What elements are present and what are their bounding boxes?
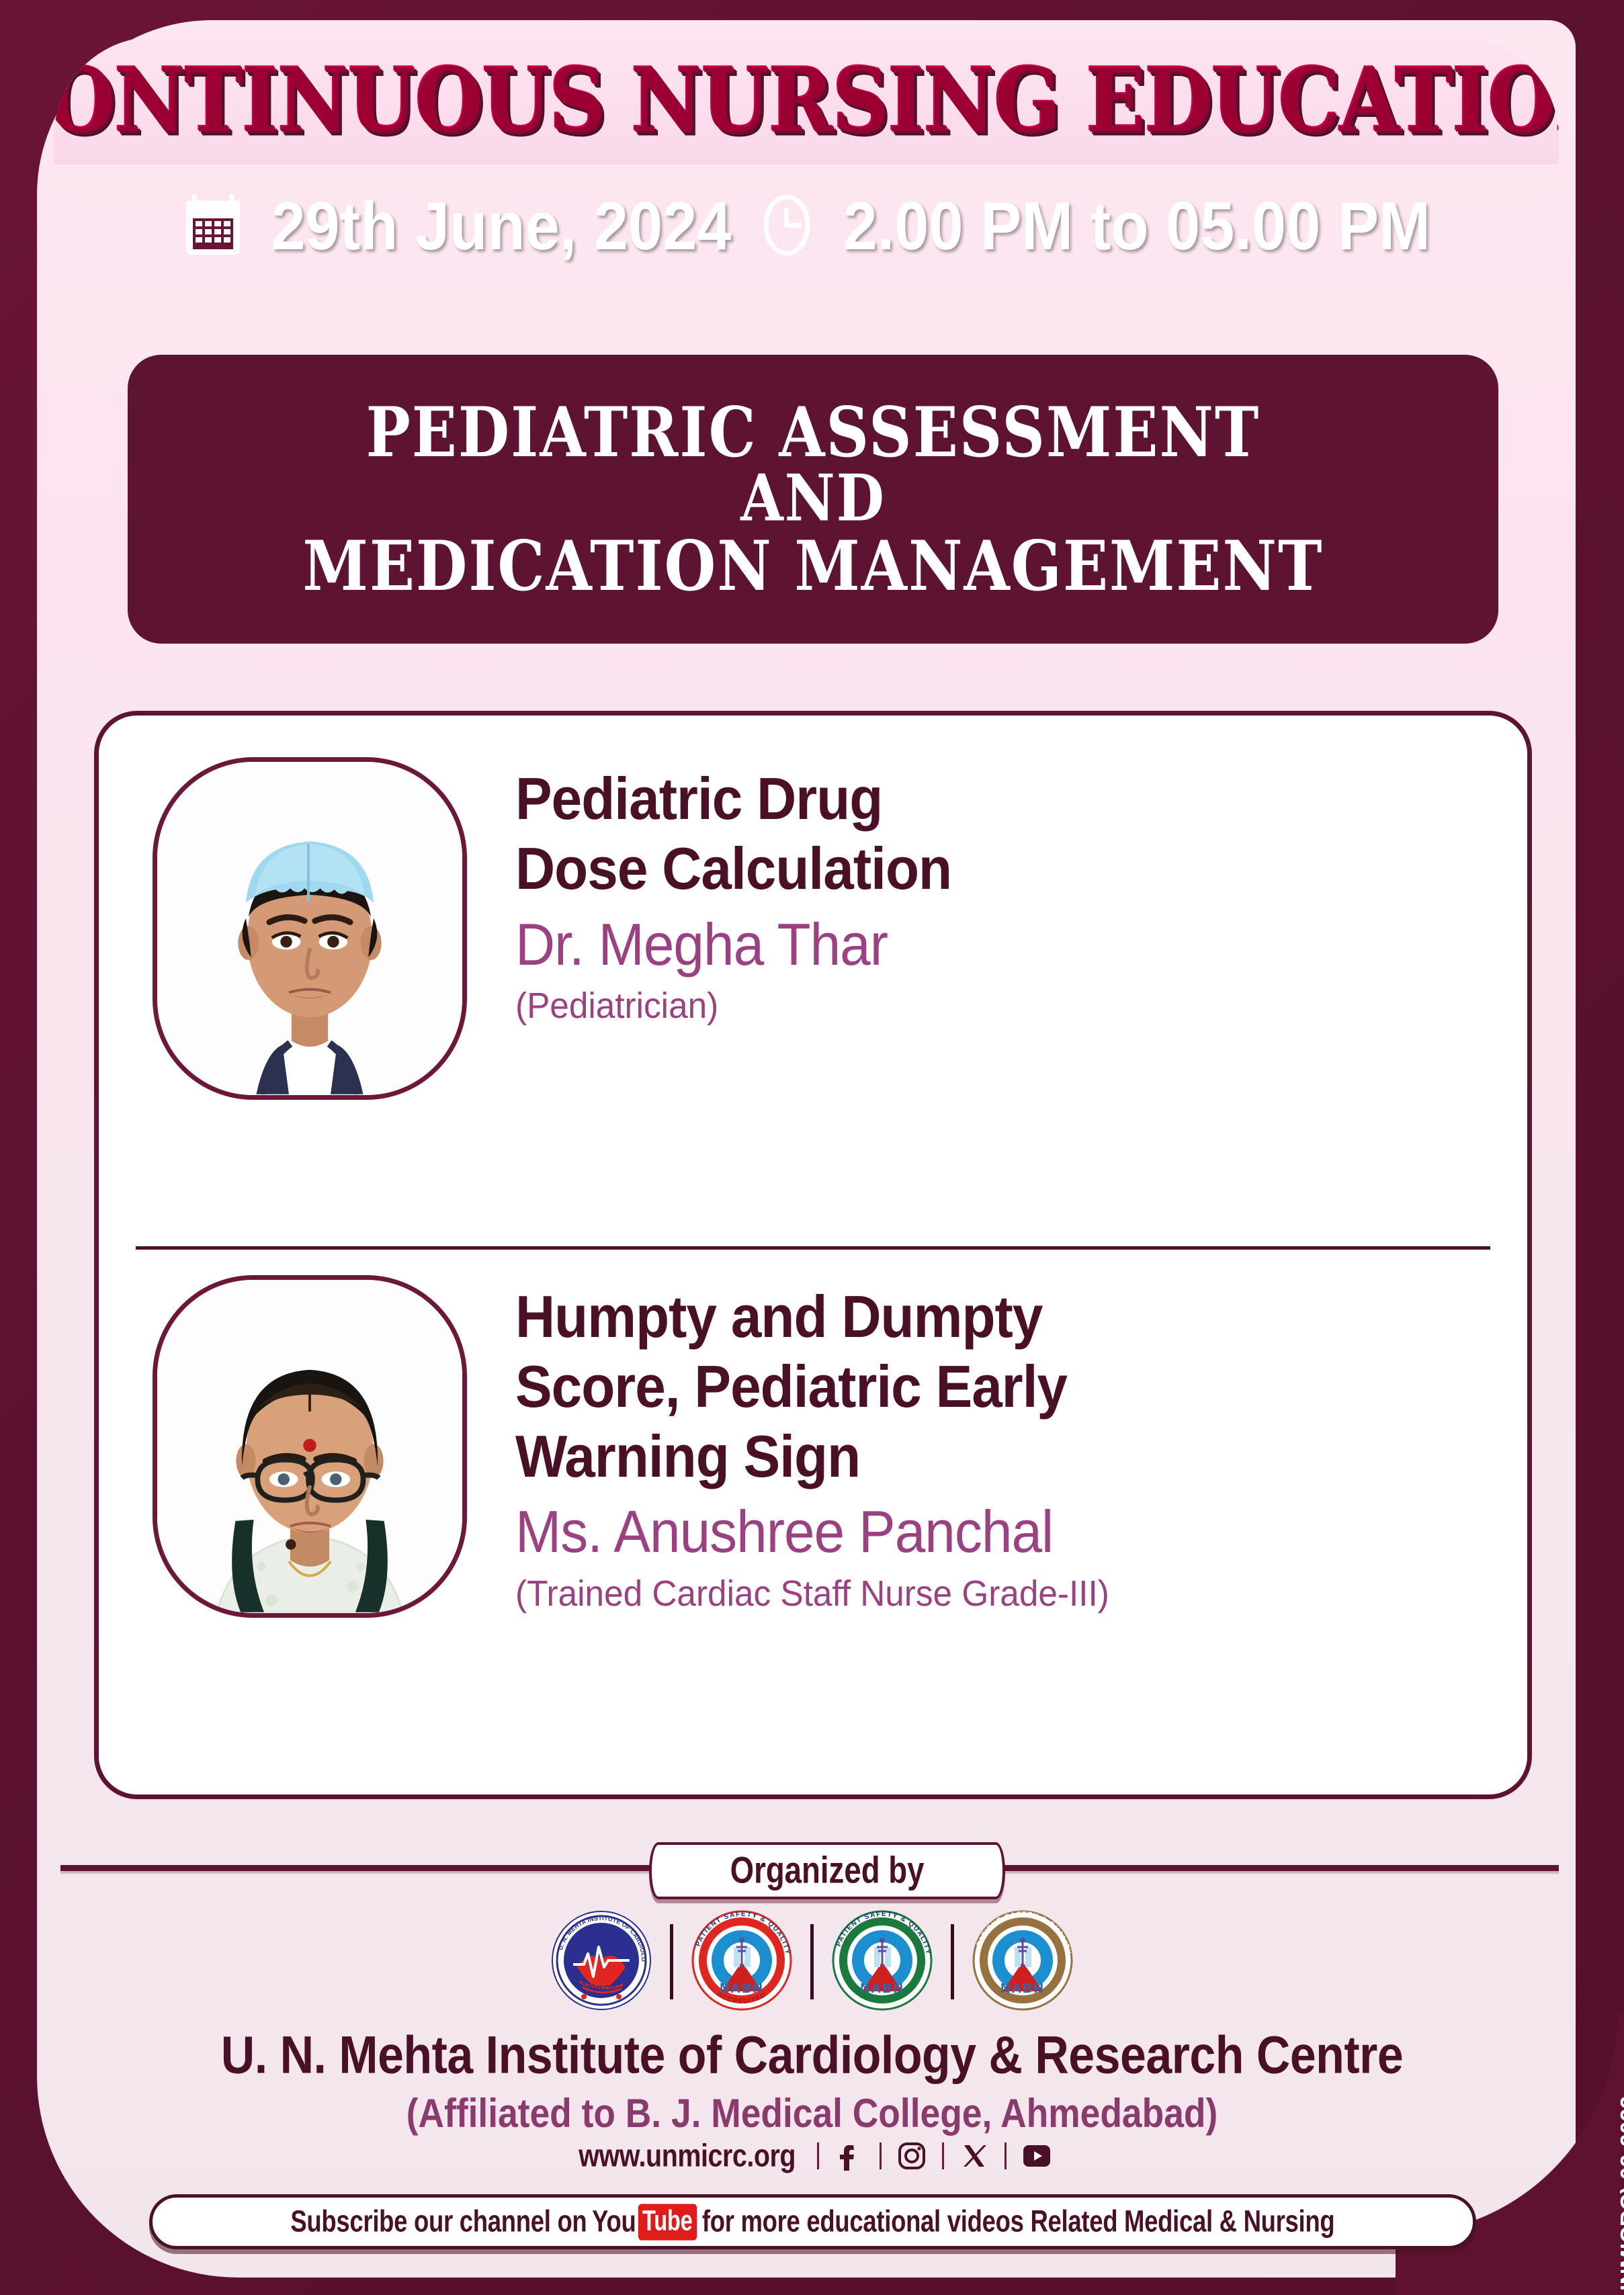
poster-root: CONTINUOUS NURSING EDUCATION xyxy=(0,0,1624,2295)
organized-by-badge: Organized by xyxy=(649,1842,1005,1899)
design-credit: Design : Photo-Graphic Dept. (UNMICRC) 0… xyxy=(1616,2284,1624,2295)
speaker-2-topic-line-1: Humpty and Dumpty xyxy=(515,1282,1097,1352)
x-twitter-icon[interactable] xyxy=(959,2140,990,2171)
subscribe-text: Subscribe our channel on YouTube for mor… xyxy=(290,2204,1334,2239)
subscribe-suffix: for more educational videos Related Medi… xyxy=(702,2204,1335,2239)
youtube-tube: Tube xyxy=(638,2204,697,2240)
header-title-band: CONTINUOUS NURSING EDUCATION xyxy=(54,37,1559,165)
clock-icon xyxy=(758,193,816,261)
divider xyxy=(880,2142,882,2169)
event-date: 29th June, 2024 xyxy=(271,188,731,266)
nabh-emergency-logo: NABH PATIENT SAFETY & QUALITY OF CARE CE… xyxy=(972,1909,1074,2015)
speakers-card: Pediatric Drug Dose Calculation Dr. Megh… xyxy=(94,711,1532,1799)
nabh-nursing-logo: NABH PATIENT SAFETY & QUALITY OF CARE CE… xyxy=(831,1909,933,2015)
divider xyxy=(817,2142,819,2169)
svg-text:NABH: NABH xyxy=(720,1981,764,1996)
social-row: www.unmicrc.org xyxy=(0,2140,1624,2172)
topic-banner: PEDIATRIC ASSESSMENT AND MEDICATION MANA… xyxy=(128,355,1498,644)
calendar-icon xyxy=(182,191,244,262)
logo-separator xyxy=(670,1924,673,1999)
header-datetime: 29th June, 2024 2.00 PM to 05.00 PM xyxy=(54,165,1559,289)
subscribe-prefix: Subscribe our channel on xyxy=(290,2204,587,2239)
event-time: 2.00 PM to 05.00 PM xyxy=(843,188,1430,266)
youtube-icon[interactable] xyxy=(1021,2140,1052,2171)
svg-text:NABH: NABH xyxy=(860,1981,904,1996)
organized-by-label: Organized by xyxy=(730,1850,925,1892)
speaker-2-role: (Trained Cardiac Staff Nurse Grade-III) xyxy=(515,1571,1109,1617)
page-title: CONTINUOUS NURSING EDUCATION xyxy=(54,56,1559,145)
institute-affiliation: (Affiliated to B. J. Medical College, Ah… xyxy=(24,2089,1599,2136)
topic-line-3: MEDICATION MANAGEMENT xyxy=(303,526,1324,606)
avatar-speaker-2 xyxy=(153,1275,467,1618)
instagram-icon[interactable] xyxy=(896,2140,927,2171)
youtube-you: You xyxy=(592,2204,636,2239)
nabh-accredited-logo: NABH PATIENT SAFETY & QUALITY OF CARE AC… xyxy=(691,1909,793,2015)
speaker-1-topic-line-2: Dose Calculation xyxy=(515,834,951,904)
speaker-2-name: Ms. Anushree Panchal xyxy=(515,1495,1097,1568)
speaker-row-2: Humpty and Dumpty Score, Pediatric Early… xyxy=(99,1250,1527,1760)
divider xyxy=(942,2142,944,2169)
speaker-1-text: Pediatric Drug Dose Calculation Dr. Megh… xyxy=(467,757,984,1029)
speaker-1-topic-line-1: Pediatric Drug xyxy=(515,764,951,834)
facebook-icon[interactable] xyxy=(834,2140,865,2171)
logo-separator xyxy=(810,1924,814,1999)
logo-strip: U. N. MEHTA INSTITUTE OF CARDIOLOGY & RE… xyxy=(0,1905,1624,2019)
speaker-row-1: Pediatric Drug Dose Calculation Dr. Megh… xyxy=(99,716,1527,1246)
speaker-1-name: Dr. Megha Thar xyxy=(515,908,951,981)
speaker-2-topic-line-2: Score, Pediatric Early xyxy=(515,1352,1097,1422)
speaker-2-text: Humpty and Dumpty Score, Pediatric Early… xyxy=(467,1275,1140,1616)
unmicrc-logo: U. N. MEHTA INSTITUTE OF CARDIOLOGY & RE… xyxy=(550,1909,652,2015)
header: CONTINUOUS NURSING EDUCATION xyxy=(54,37,1559,306)
svg-text:NABH: NABH xyxy=(1000,1981,1045,1996)
avatar-speaker-1 xyxy=(153,757,467,1100)
speaker-1-role: (Pediatrician) xyxy=(515,984,961,1029)
divider xyxy=(1005,2142,1007,2169)
speaker-2-topic-line-3: Warning Sign xyxy=(515,1422,1097,1491)
website-link[interactable]: www.unmicrc.org xyxy=(579,2138,796,2174)
subscribe-banner[interactable]: Subscribe our channel on YouTube for mor… xyxy=(149,2194,1476,2249)
logo-separator xyxy=(951,1924,954,1999)
youtube-wordmark: YouTube xyxy=(592,2204,697,2239)
institute-name: U. N. Mehta Institute of Cardiology & Re… xyxy=(24,2025,1599,2085)
